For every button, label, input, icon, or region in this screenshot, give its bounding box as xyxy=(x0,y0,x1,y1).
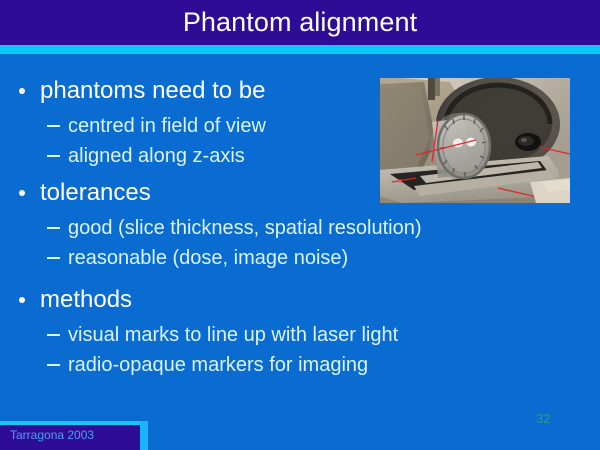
page-title: Phantom alignment xyxy=(0,0,600,45)
title-accent-rule xyxy=(0,45,600,54)
bullet-item: phantoms need to be xyxy=(0,75,600,106)
dash-icon xyxy=(47,257,60,259)
sub-bullet-item: reasonable (dose, image noise) xyxy=(0,243,600,273)
sub-bullet-label: good (slice thickness, spatial resolutio… xyxy=(68,217,422,239)
dash-icon xyxy=(47,334,60,336)
sub-bullet-label: reasonable (dose, image noise) xyxy=(68,247,348,269)
bullet-dot-icon xyxy=(19,297,25,303)
page-number: 32 xyxy=(536,411,550,427)
sub-bullet-item: good (slice thickness, spatial resolutio… xyxy=(0,213,600,243)
footer-label: Tarragona 2003 xyxy=(10,427,94,444)
sub-bullet-label: aligned along z-axis xyxy=(68,145,245,167)
slide-body: phantoms need to be centred in field of … xyxy=(0,57,600,407)
sub-bullet-item: radio-opaque markers for imaging xyxy=(0,350,600,380)
bullet-item: methods xyxy=(0,284,600,315)
footer-accent-tab xyxy=(140,421,148,450)
sub-bullet-item: visual marks to line up with laser light xyxy=(0,320,600,350)
bullet-dot-icon xyxy=(19,88,25,94)
bullet-label: tolerances xyxy=(40,179,151,206)
slide: Phantom alignment xyxy=(0,0,600,450)
bullet-item: tolerances xyxy=(0,177,600,208)
dash-icon xyxy=(47,227,60,229)
dash-icon xyxy=(47,364,60,366)
dash-icon xyxy=(47,155,60,157)
sub-bullet-item: aligned along z-axis xyxy=(0,141,600,171)
sub-bullet-item: centred in field of view xyxy=(0,111,600,141)
sub-bullet-label: visual marks to line up with laser light xyxy=(68,324,398,346)
dash-icon xyxy=(47,125,60,127)
bullet-dot-icon xyxy=(19,190,25,196)
title-band: Phantom alignment xyxy=(0,0,600,45)
sub-bullet-label: radio-opaque markers for imaging xyxy=(68,354,368,376)
bullet-group-1: phantoms need to be centred in field of … xyxy=(0,75,600,171)
bullet-group-2: tolerances good (slice thickness, spatia… xyxy=(0,177,600,273)
bullet-label: phantoms need to be xyxy=(40,77,266,104)
bullet-label: methods xyxy=(40,286,132,313)
bullet-group-3: methods visual marks to line up with las… xyxy=(0,284,600,380)
sub-bullet-label: centred in field of view xyxy=(68,115,266,137)
